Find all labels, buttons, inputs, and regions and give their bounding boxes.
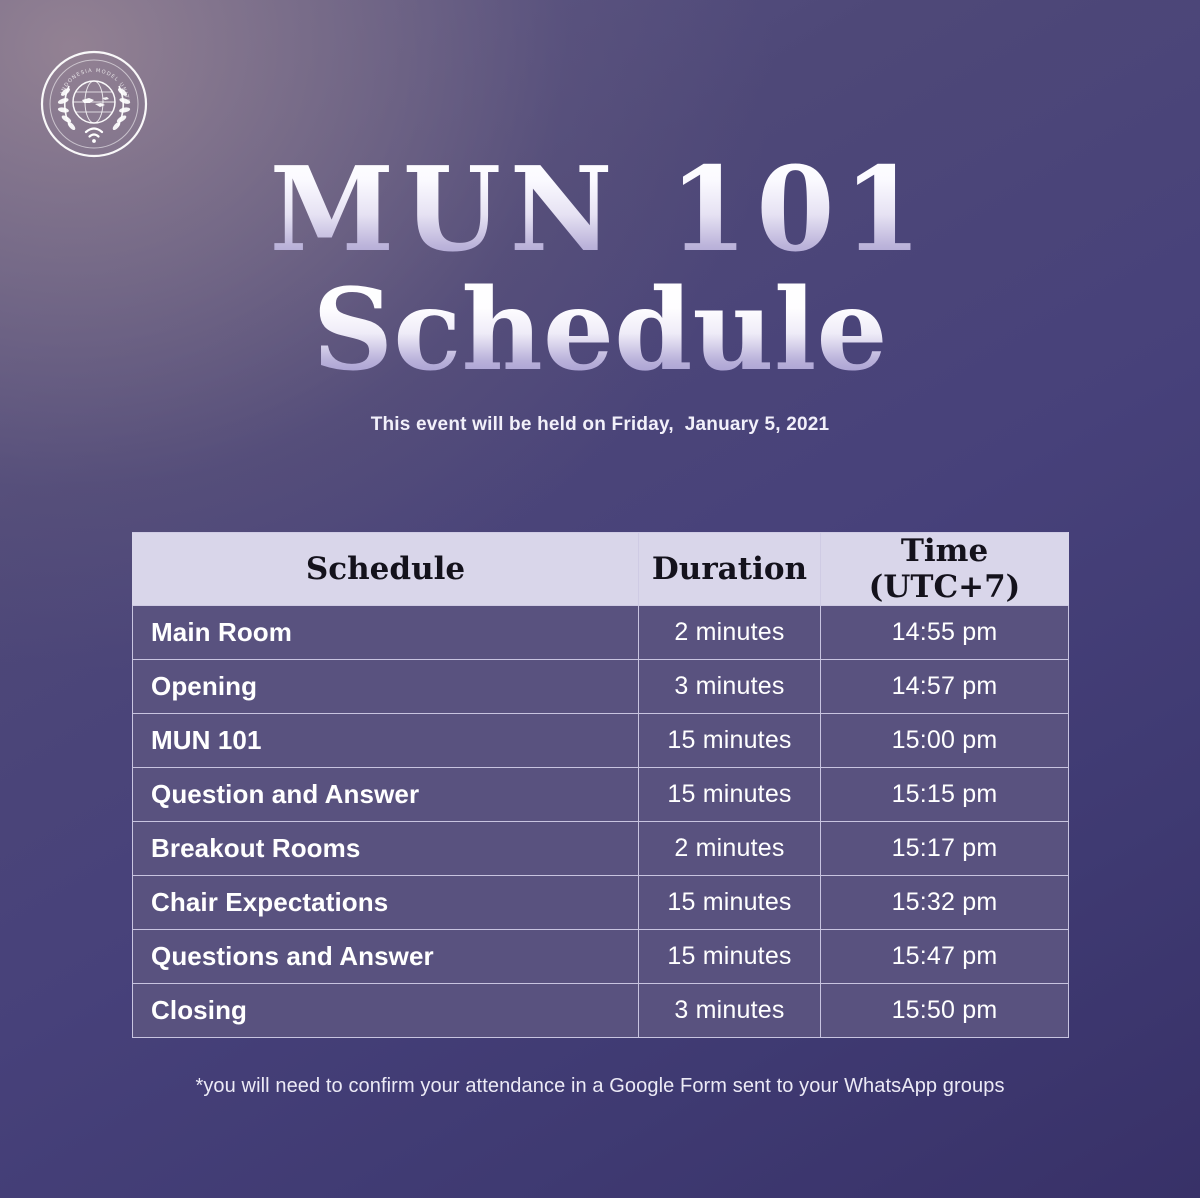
row-name: Question and Answer [133,768,639,822]
organisation-logo: INDONESIA MODEL UNITED NATIONS [38,48,150,160]
table-row: Chair Expectations 15 minutes 15:32 pm [133,876,1069,930]
row-duration: 15 minutes [639,768,821,822]
row-time: 14:57 pm [821,660,1069,714]
poster-canvas: INDONESIA MODEL UNITED NATIONS MUN 101 S… [0,0,1200,1198]
table-row: Main Room 2 minutes 14:55 pm [133,606,1069,660]
page-title: MUN 101 [18,152,1182,268]
table-row: Question and Answer 15 minutes 15:15 pm [133,768,1069,822]
schedule-table-body: Main Room 2 minutes 14:55 pm Opening 3 m… [133,606,1069,1038]
row-time: 15:50 pm [821,984,1069,1038]
row-time: 15:47 pm [821,930,1069,984]
table-row: Questions and Answer 15 minutes 15:47 pm [133,930,1069,984]
row-name: MUN 101 [133,714,639,768]
row-time: 15:32 pm [821,876,1069,930]
row-name: Breakout Rooms [133,822,639,876]
table-row: Breakout Rooms 2 minutes 15:17 pm [133,822,1069,876]
footnote-text: *you will need to confirm your attendanc… [0,1075,1200,1098]
column-header-time: Time (UTC+7) [821,533,1069,606]
row-duration: 15 minutes [639,930,821,984]
row-name: Opening [133,660,639,714]
row-time: 15:15 pm [821,768,1069,822]
column-header-schedule: Schedule [133,533,639,606]
table-header-row: Schedule Duration Time (UTC+7) [133,533,1069,606]
row-duration: 15 minutes [639,876,821,930]
row-name: Main Room [133,606,639,660]
page-subtitle: Schedule [0,274,1200,388]
row-name: Questions and Answer [133,930,639,984]
schedule-table: Schedule Duration Time (UTC+7) Main Room… [132,532,1069,1038]
row-time: 15:00 pm [821,714,1069,768]
table-row: Opening 3 minutes 14:57 pm [133,660,1069,714]
row-duration: 15 minutes [639,714,821,768]
row-duration: 2 minutes [639,822,821,876]
column-header-duration: Duration [639,533,821,606]
row-time: 14:55 pm [821,606,1069,660]
table-row: MUN 101 15 minutes 15:00 pm [133,714,1069,768]
row-time: 15:17 pm [821,822,1069,876]
row-name: Chair Expectations [133,876,639,930]
event-date: This event will be held on Friday, Janua… [0,414,1200,436]
row-duration: 3 minutes [639,984,821,1038]
table-row: Closing 3 minutes 15:50 pm [133,984,1069,1038]
row-duration: 3 minutes [639,660,821,714]
row-duration: 2 minutes [639,606,821,660]
title-block: MUN 101 Schedule This event will be held… [0,152,1200,436]
row-name: Closing [133,984,639,1038]
mun-globe-laurel-emblem-icon: INDONESIA MODEL UNITED NATIONS [38,48,150,160]
